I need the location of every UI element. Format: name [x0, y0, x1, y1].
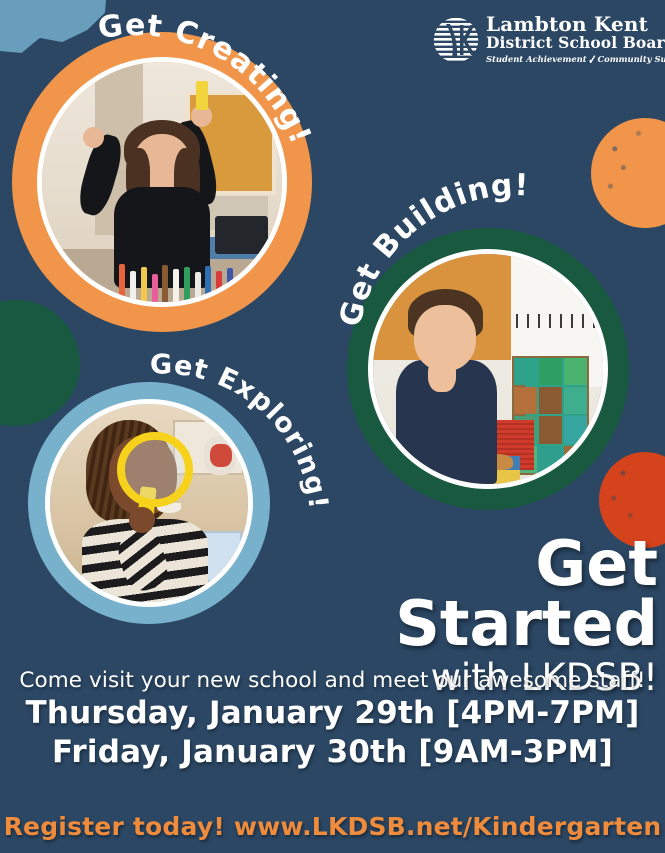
lkdsb-emblem-icon — [432, 16, 480, 64]
logo-tagline: Student Achievement✓Community Success — [486, 53, 656, 67]
logo-line-1: Lambton Kent — [486, 14, 656, 34]
caption-creating-curve: Get Creating! — [2, 0, 362, 248]
caption-building-text: Get Building! — [333, 168, 530, 330]
logo-tagline-left: Student Achievement — [486, 54, 587, 64]
caption-creating-text: Get Creating! — [96, 8, 318, 149]
logo-line-2: District School Board — [486, 34, 656, 52]
caption-building-curve: Get Building! — [325, 166, 655, 376]
caption-exploring-curve: Get Exploring! — [34, 328, 334, 568]
headline-main: Get Started — [278, 534, 658, 654]
event-info-block: Come visit your new school and meet our … — [0, 668, 665, 772]
lkdsb-logo: Lambton Kent District School Board Stude… — [432, 14, 654, 76]
photo-circle-building: Get Building! — [347, 228, 629, 510]
event-invite-line: Come visit your new school and meet our … — [0, 668, 665, 694]
event-date-thursday: Thursday, January 29th [4PM-7PM] — [0, 694, 665, 733]
kindergarten-open-house-poster: Lambton Kent District School Board Stude… — [0, 0, 665, 853]
register-link[interactable]: Register today! www.LKDSB.net/Kindergart… — [0, 812, 665, 841]
photo-circle-exploring: Get Exploring! — [28, 382, 270, 624]
logo-tagline-right: Community Success — [598, 54, 665, 64]
caption-exploring-text: Get Exploring! — [150, 349, 334, 511]
check-icon: ✓ — [588, 55, 597, 67]
photo-circle-creating: Get Creating! — [12, 32, 312, 332]
event-date-friday: Friday, January 30th [9AM-3PM] — [0, 733, 665, 772]
